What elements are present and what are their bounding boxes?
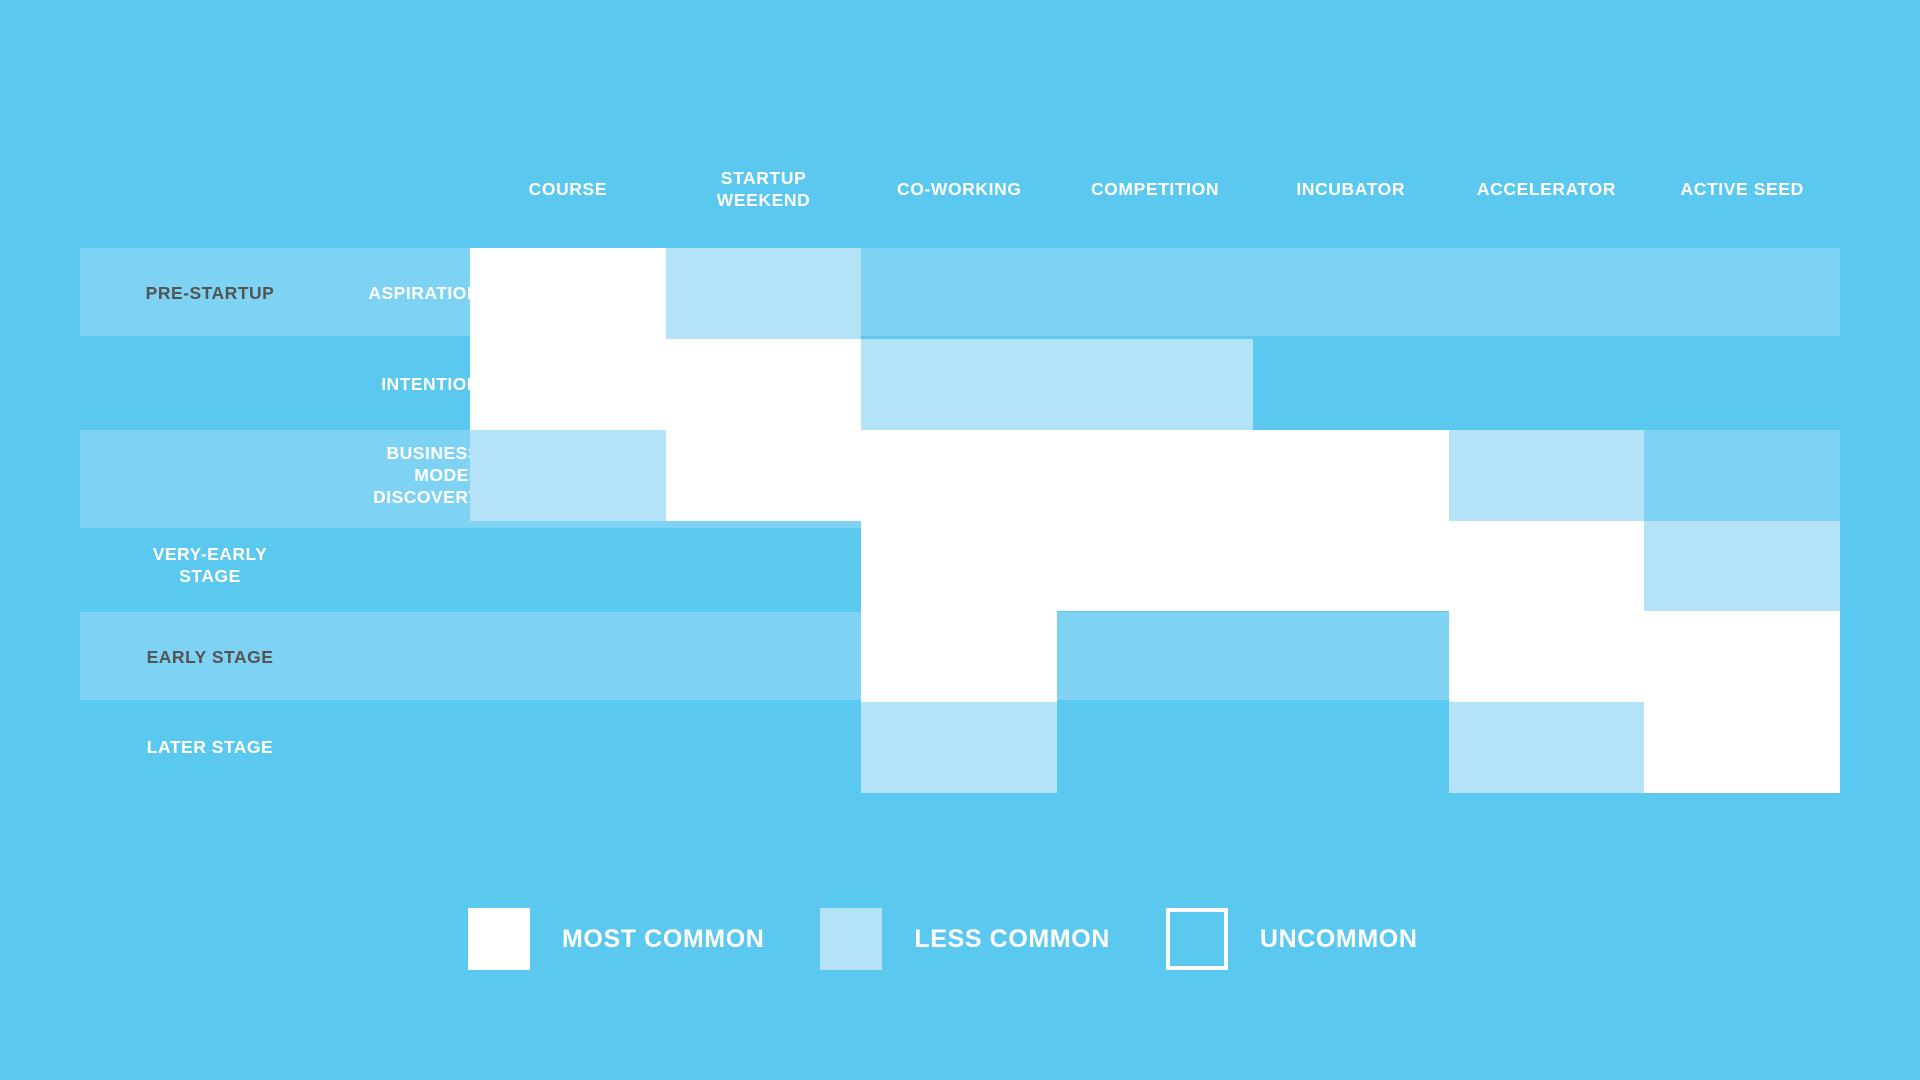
matrix-cell <box>666 702 862 793</box>
matrix-cell <box>666 521 862 612</box>
matrix-cell <box>470 702 666 793</box>
substage-label-business-model-discovery: BUSINESSMODELDISCOVERY <box>300 443 480 509</box>
matrix-cell <box>1057 702 1253 793</box>
matrix-cell <box>1449 611 1645 702</box>
matrix-cell <box>666 248 862 339</box>
substage-label-aspiration: ASPIRATION <box>300 283 480 305</box>
matrix-cell <box>861 339 1057 430</box>
legend-swatch-most-common <box>468 908 530 970</box>
matrix-cell <box>470 521 666 612</box>
legend: MOST COMMON LESS COMMON UNCOMMON <box>468 908 1417 970</box>
matrix-cell <box>1449 702 1645 793</box>
legend-label-uncommon: UNCOMMON <box>1260 925 1418 954</box>
legend-label-less-common: LESS COMMON <box>914 925 1110 954</box>
matrix-cell <box>1644 611 1840 702</box>
matrix-cell <box>1057 430 1253 521</box>
matrix-cell <box>1644 702 1840 793</box>
support-matrix-chart: COURSE STARTUPWEEKEND CO-WORKING COMPETI… <box>0 0 1920 1080</box>
matrix-cell <box>666 430 862 521</box>
matrix-cell <box>1253 430 1449 521</box>
matrix-cell <box>470 611 666 702</box>
matrix-cell <box>666 611 862 702</box>
column-header-accelerator: ACCELERATOR <box>1449 160 1645 220</box>
matrix-cell <box>1057 339 1253 430</box>
matrix-cell <box>1644 248 1840 339</box>
column-header-startup-weekend: STARTUPWEEKEND <box>666 160 862 220</box>
matrix-cell <box>1449 339 1645 430</box>
stage-label-pre-startup: PRE-STARTUP <box>115 283 305 305</box>
matrix-cell <box>1449 521 1645 612</box>
stage-label-later-stage: LATER STAGE <box>115 737 305 759</box>
matrix-cell <box>1253 248 1449 339</box>
legend-label-most-common: MOST COMMON <box>562 925 764 954</box>
matrix-cell <box>1449 430 1645 521</box>
matrix-cell <box>470 339 666 430</box>
matrix-cell <box>1449 248 1645 339</box>
matrix-cell <box>1644 430 1840 521</box>
matrix-cell <box>1057 611 1253 702</box>
column-header-active-seed: ACTIVE SEED <box>1644 160 1840 220</box>
legend-item-uncommon: UNCOMMON <box>1166 908 1418 970</box>
matrix-cell <box>1253 339 1449 430</box>
matrix-cell <box>861 702 1057 793</box>
column-header-co-working: CO-WORKING <box>861 160 1057 220</box>
stage-label-early-stage: EARLY STAGE <box>115 647 305 669</box>
substage-label-intention: INTENTION <box>300 374 480 396</box>
column-header-row: COURSE STARTUPWEEKEND CO-WORKING COMPETI… <box>470 160 1840 220</box>
matrix-cell <box>1253 611 1449 702</box>
matrix-cell <box>470 248 666 339</box>
matrix-cell <box>861 521 1057 612</box>
matrix-cell <box>1644 521 1840 612</box>
legend-swatch-uncommon <box>1166 908 1228 970</box>
matrix-cell <box>1057 248 1253 339</box>
matrix-cell <box>666 339 862 430</box>
matrix-cell <box>1253 521 1449 612</box>
matrix-cell <box>861 430 1057 521</box>
matrix-grid <box>470 248 1840 793</box>
column-header-competition: COMPETITION <box>1057 160 1253 220</box>
matrix-cell <box>470 430 666 521</box>
column-header-incubator: INCUBATOR <box>1253 160 1449 220</box>
matrix-cell <box>1057 521 1253 612</box>
legend-item-most-common: MOST COMMON <box>468 908 764 970</box>
legend-item-less-common: LESS COMMON <box>820 908 1110 970</box>
column-header-course: COURSE <box>470 160 666 220</box>
matrix-cell <box>1253 702 1449 793</box>
stage-label-very-early-stage: VERY-EARLYSTAGE <box>115 544 305 588</box>
matrix-cell <box>861 248 1057 339</box>
legend-swatch-less-common <box>820 908 882 970</box>
matrix-cell <box>1644 339 1840 430</box>
matrix-cell <box>861 611 1057 702</box>
